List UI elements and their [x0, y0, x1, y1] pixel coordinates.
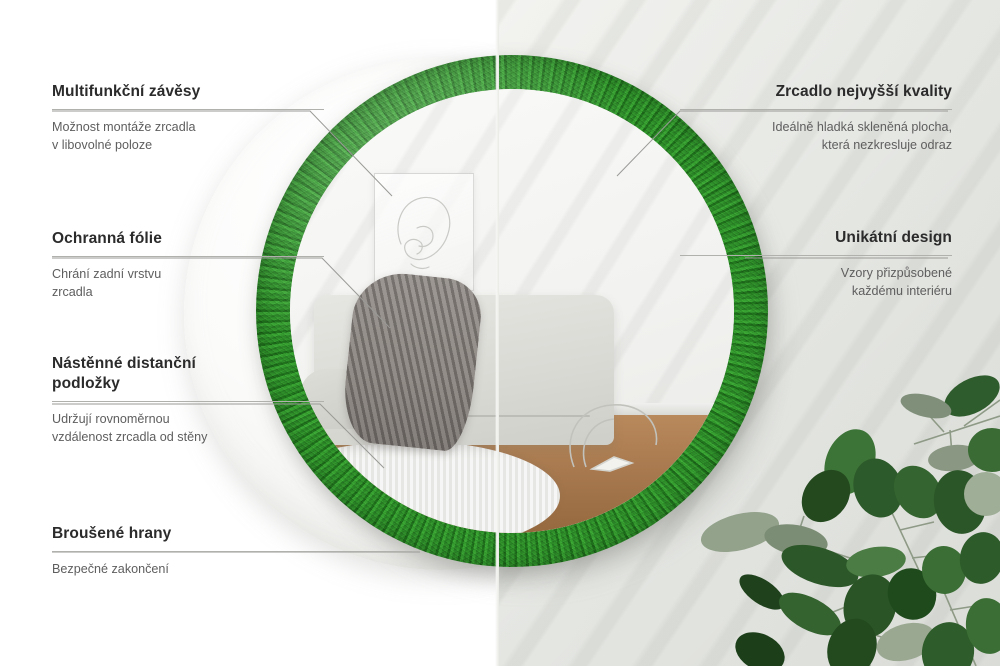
- callout-title: Unikátní design: [680, 228, 952, 248]
- callout-rule: [680, 255, 952, 256]
- callout-description-line2: vzdálenost zrcadla od stěny: [52, 429, 324, 447]
- callout-title-line2: podložky: [52, 374, 324, 394]
- callout-rule: [52, 401, 324, 402]
- callout-rule: [52, 551, 412, 552]
- callout-title: Broušené hrany: [52, 524, 412, 544]
- callout-description-line1: Bezpečné zakončení: [52, 561, 412, 579]
- callout-description: Možnost montáže zrcadla v libovolné polo…: [52, 119, 324, 155]
- line-art-face-icon: [374, 173, 474, 291]
- callout-zrcadlo-nejvyssi-kvality: Zrcadlo nejvyšší kvality Ideálně hladká …: [680, 82, 952, 155]
- reflected-wire-chair: [556, 371, 676, 481]
- callout-description-line1: Vzory přizpůsobené: [680, 265, 952, 283]
- callout-description: Bezpečné zakončení: [52, 561, 412, 579]
- callout-multifunkcni-zavesy: Multifunkční závěsy Možnost montáže zrca…: [52, 82, 324, 155]
- callout-description: Udržují rovnoměrnou vzdálenost zrcadla o…: [52, 411, 324, 447]
- callout-description: Ideálně hladká skleněná plocha, která ne…: [680, 119, 952, 155]
- callout-rule: [52, 109, 324, 110]
- callout-ochranna-folie: Ochranná fólie Chrání zadní vrstvu zrcad…: [52, 229, 324, 302]
- mirror-glass-reflection: [290, 89, 734, 533]
- callout-rule: [680, 109, 952, 110]
- callout-brousene-hrany: Broušené hrany Bezpečné zakončení: [52, 524, 412, 579]
- callout-description-line2: každému interiéru: [680, 283, 952, 301]
- callout-nastenne-distancni-podlozky: Nástěnné distanční podložky Udržují rovn…: [52, 354, 324, 446]
- callout-title: Ochranná fólie: [52, 229, 324, 249]
- callout-title: Nástěnné distanční podložky: [52, 354, 324, 394]
- callout-title: Multifunkční závěsy: [52, 82, 324, 102]
- callout-description-line1: Chrání zadní vrstvu: [52, 266, 324, 284]
- panel-divider: [495, 0, 499, 666]
- leaf-branch-icon: [700, 326, 1000, 666]
- callout-description-line1: Ideálně hladká skleněná plocha,: [680, 119, 952, 137]
- reflected-knit-throw: [339, 269, 484, 453]
- callout-title: Zrcadlo nejvyšší kvality: [680, 82, 952, 102]
- callout-description-line2: která nezkresluje odraz: [680, 137, 952, 155]
- callout-title-line1: Nástěnné distanční: [52, 354, 324, 374]
- callout-description-line2: v libovolné poloze: [52, 137, 324, 155]
- callout-description-line2: zrcadla: [52, 284, 324, 302]
- callout-description: Chrání zadní vrstvu zrcadla: [52, 266, 324, 302]
- callout-description-line1: Možnost montáže zrcadla: [52, 119, 324, 137]
- callout-rule: [52, 256, 324, 257]
- callout-unikatni-design: Unikátní design Vzory přizpůsobené každé…: [680, 228, 952, 301]
- product-infographic: Multifunkční závěsy Možnost montáže zrca…: [0, 0, 1000, 666]
- callout-description-line1: Udržují rovnoměrnou: [52, 411, 324, 429]
- callout-description: Vzory přizpůsobené každému interiéru: [680, 265, 952, 301]
